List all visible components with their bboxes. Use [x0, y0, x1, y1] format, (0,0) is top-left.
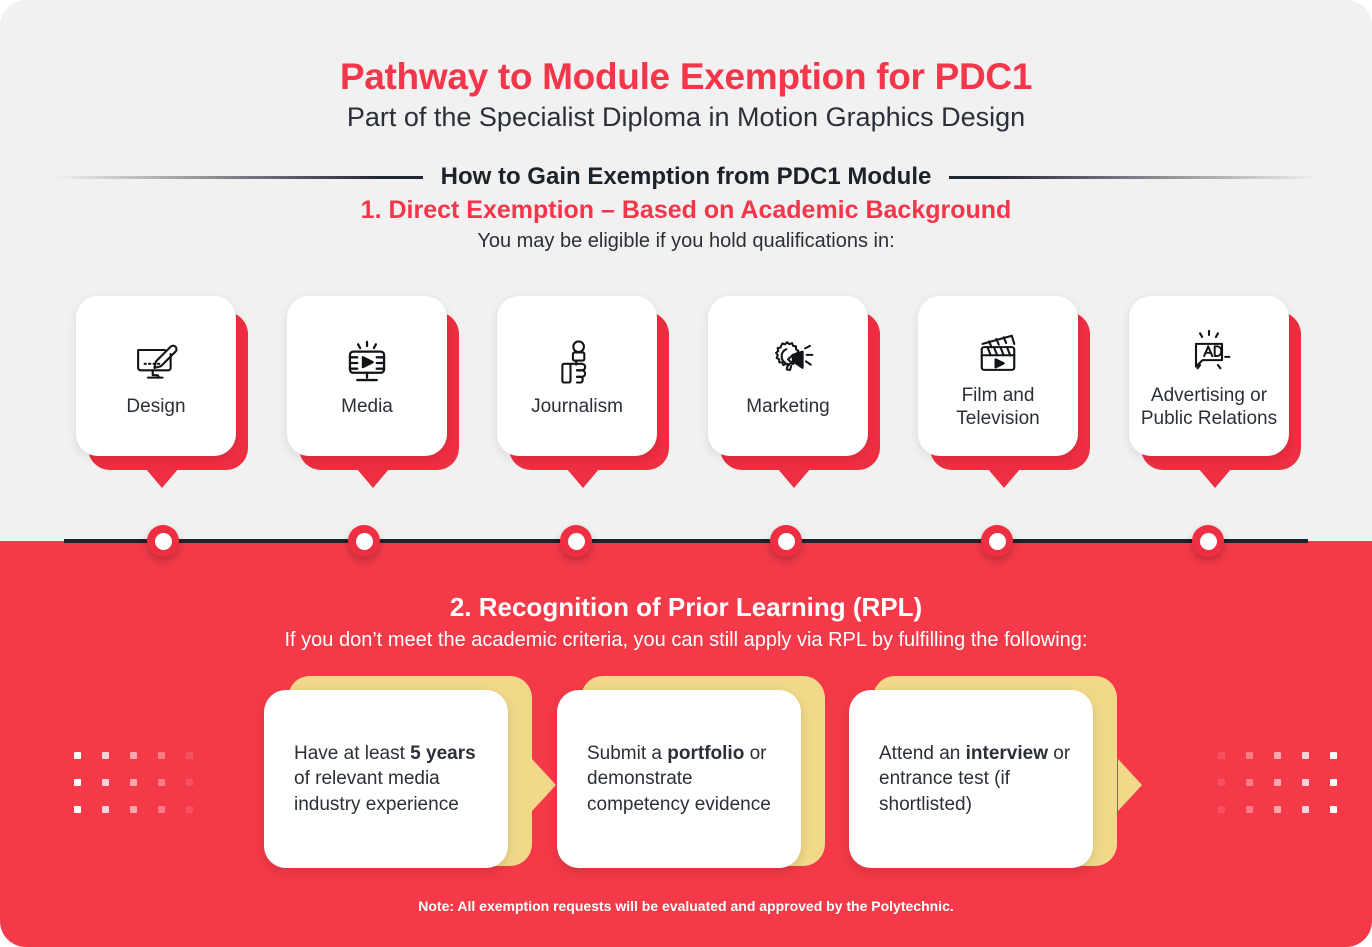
card-pointer	[1193, 462, 1237, 488]
node-center	[778, 533, 795, 550]
qualification-card-media[interactable]: Media	[287, 296, 451, 470]
rpl-step-list: Have at least 5 years of relevant media …	[0, 684, 1372, 884]
node-center	[1200, 533, 1217, 550]
rpl-step-interview[interactable]: Attend an interview or entrance test (if…	[849, 684, 1117, 874]
card-label: Journalism	[531, 395, 623, 418]
page-subtitle: Part of the Specialist Diploma in Motion…	[0, 102, 1372, 133]
monitor-paintbrush-icon	[130, 337, 182, 389]
clapperboard-play-icon	[972, 326, 1024, 378]
divider-line-right	[949, 176, 1319, 179]
card-pointer	[561, 462, 605, 488]
section-one-subheading: You may be eligible if you hold qualific…	[0, 230, 1372, 253]
card-face: Advertising or Public Relations	[1129, 296, 1289, 456]
step-face: Have at least 5 years of relevant media …	[264, 690, 508, 868]
card-face: Film and Television	[918, 296, 1078, 456]
infographic-canvas: Pathway to Module Exemption for PDC1 Par…	[0, 0, 1372, 947]
card-pointer	[772, 462, 816, 488]
qualification-card-journalism[interactable]: Journalism	[497, 296, 661, 470]
monitor-play-icon	[341, 337, 393, 389]
step-text: Attend an interview or entrance test (if…	[879, 741, 1071, 817]
page-title: Pathway to Module Exemption for PDC1	[0, 56, 1372, 98]
card-pointer	[982, 462, 1026, 488]
gear-megaphone-icon	[762, 337, 814, 389]
card-face: Design	[76, 296, 236, 456]
rpl-step-portfolio[interactable]: Submit a portfolio or demonstrate compet…	[557, 684, 825, 874]
direct-exemption-section: Pathway to Module Exemption for PDC1 Par…	[0, 0, 1372, 541]
qualification-card-list: Design Media	[0, 296, 1372, 511]
step-face: Attend an interview or entrance test (if…	[849, 690, 1093, 868]
card-face: Marketing	[708, 296, 868, 456]
card-label: Marketing	[746, 395, 829, 418]
timeline-node-advertising	[1192, 525, 1224, 557]
timeline-node-film-television	[981, 525, 1013, 557]
qualification-card-film-television[interactable]: Film and Television	[918, 296, 1082, 470]
step-text: Have at least 5 years of relevant media …	[294, 741, 486, 817]
divider-line-left	[53, 176, 423, 179]
qualification-card-marketing[interactable]: Marketing	[708, 296, 872, 470]
timeline-node-media	[348, 525, 380, 557]
node-center	[989, 533, 1006, 550]
qualification-card-design[interactable]: Design	[76, 296, 240, 470]
rpl-step-experience[interactable]: Have at least 5 years of relevant media …	[264, 684, 532, 874]
card-pointer	[140, 462, 184, 488]
step-face: Submit a portfolio or demonstrate compet…	[557, 690, 801, 868]
card-label: Film and Television	[924, 384, 1072, 430]
step-text: Submit a portfolio or demonstrate compet…	[587, 741, 779, 817]
card-label: Advertising or Public Relations	[1135, 384, 1283, 430]
section-one-heading: 1. Direct Exemption – Based on Academic …	[0, 196, 1372, 225]
timeline-node-marketing	[770, 525, 802, 557]
footnote: Note: All exemption requests will be eva…	[0, 898, 1372, 914]
section-two-heading: 2. Recognition of Prior Learning (RPL)	[0, 592, 1372, 623]
rpl-section: 2. Recognition of Prior Learning (RPL) I…	[0, 541, 1372, 947]
ad-speech-bubble-icon	[1183, 326, 1235, 378]
section-two-subheading: If you don’t meet the academic criteria,…	[0, 629, 1372, 652]
timeline-node-design	[147, 525, 179, 557]
divider: How to Gain Exemption from PDC1 Module	[0, 163, 1372, 191]
node-center	[356, 533, 373, 550]
card-pointer	[351, 462, 395, 488]
node-center	[568, 533, 585, 550]
card-face: Media	[287, 296, 447, 456]
card-label: Design	[126, 395, 185, 418]
timeline-node-journalism	[560, 525, 592, 557]
card-label: Media	[341, 395, 393, 418]
step-arrow-icon	[532, 759, 556, 811]
qualification-card-advertising[interactable]: Advertising or Public Relations	[1129, 296, 1293, 470]
hand-microphone-icon	[551, 337, 603, 389]
step-arrow-icon	[1118, 759, 1142, 811]
card-face: Journalism	[497, 296, 657, 456]
node-center	[155, 533, 172, 550]
timeline-track	[64, 539, 1308, 543]
divider-label: How to Gain Exemption from PDC1 Module	[441, 163, 932, 191]
